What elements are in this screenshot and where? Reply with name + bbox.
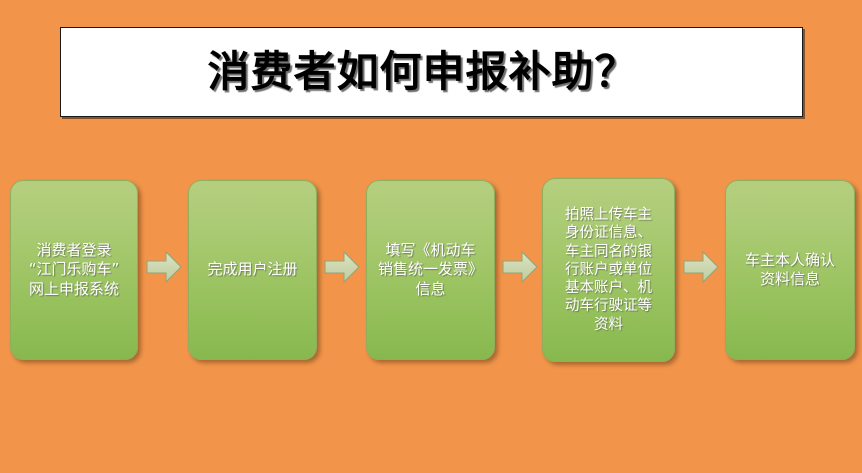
flow-step-1[interactable]: 消费者登录 “江门乐购车” 网上申报系统 xyxy=(10,180,138,360)
flow-step-4-label: 拍照上传车主 身份证信息、 车主同名的银 行账户或单位 基本账户、机 动车行驶证… xyxy=(549,206,668,334)
process-flow: 消费者登录 “江门乐购车” 网上申报系统 完成用户注册 填写《机 xyxy=(0,170,862,370)
flow-step-4[interactable]: 拍照上传车主 身份证信息、 车主同名的银 行账户或单位 基本账户、机 动车行驶证… xyxy=(542,178,675,362)
flow-step-3[interactable]: 填写《机动车 销售统一发票》 信息 xyxy=(366,180,495,360)
flow-arrow-4-to-5 xyxy=(683,250,719,284)
flow-arrow-3-to-4 xyxy=(502,250,538,284)
flow-step-5[interactable]: 车主本人确认 资料信息 xyxy=(725,180,855,360)
flow-step-3-label: 填写《机动车 销售统一发票》 信息 xyxy=(373,241,488,300)
title-box: 消费者如何申报补助？ xyxy=(60,27,803,117)
flow-arrow-1-to-2 xyxy=(146,250,182,284)
flow-step-5-label: 车主本人确认 资料信息 xyxy=(732,251,848,290)
flow-step-1-label: 消费者登录 “江门乐购车” 网上申报系统 xyxy=(17,241,131,300)
flow-step-2[interactable]: 完成用户注册 xyxy=(188,180,317,360)
flow-arrow-2-to-3 xyxy=(324,250,360,284)
flow-step-2-label: 完成用户注册 xyxy=(195,260,310,280)
page-title: 消费者如何申报补助？ xyxy=(207,51,637,93)
slide-canvas: 消费者如何申报补助？ 消费者登录 “江门乐购车” 网上申报系统 完成用户注册 xyxy=(0,0,862,473)
